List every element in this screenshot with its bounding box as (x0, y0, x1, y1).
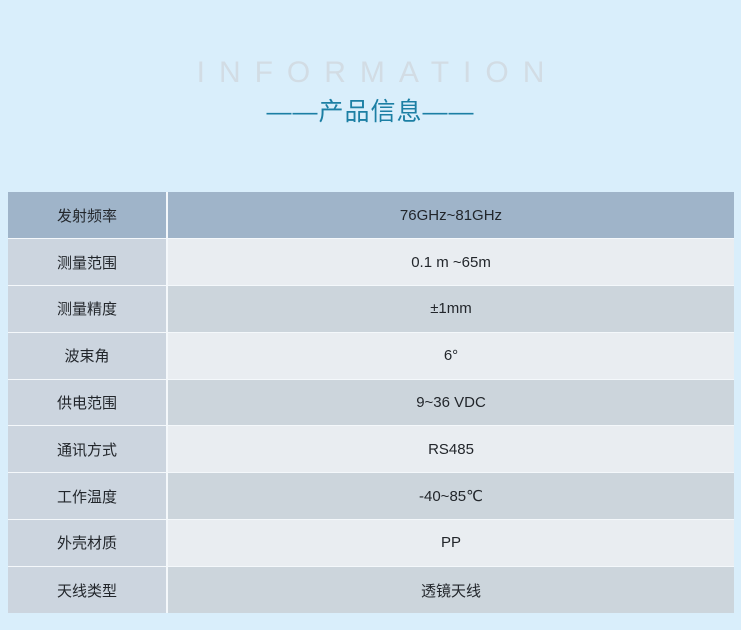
spec-label-text: 天线类型 (8, 580, 166, 601)
spec-value-cell: 9~36 VDC (167, 379, 734, 426)
spec-label-cell: 天线类型 (8, 566, 167, 613)
spec-value-cell: ±1mm (167, 286, 734, 333)
spec-value-text: RS485 (168, 441, 734, 458)
table-row: 天线类型 透镜天线 (8, 566, 734, 613)
spec-value-cell: 76GHz~81GHz (167, 192, 734, 239)
spec-value-text: 9~36 VDC (168, 394, 734, 411)
spec-label-cell: 工作温度 (8, 473, 167, 520)
spec-label-cell: 供电范围 (8, 379, 167, 426)
spec-label-cell: 测量精度 (8, 286, 167, 333)
spec-value-cell: 6° (167, 332, 734, 379)
spec-label-cell: 通讯方式 (8, 426, 167, 473)
spec-label-text: 外壳材质 (8, 532, 166, 553)
spec-value-cell: RS485 (167, 426, 734, 473)
spec-label-text: 波束角 (8, 345, 166, 366)
table-row: 通讯方式 RS485 (8, 426, 734, 473)
page-heading: INFORMATION ——产品信息—— (0, 56, 741, 128)
spec-value-text: 透镜天线 (168, 580, 734, 601)
table-row: 波束角 6° (8, 332, 734, 379)
spec-label-text: 工作温度 (8, 486, 166, 507)
spec-label-text: 测量范围 (8, 252, 166, 273)
spec-label-cell: 测量范围 (8, 239, 167, 286)
spec-value-cell: -40~85℃ (167, 473, 734, 520)
table-row: 工作温度 -40~85℃ (8, 473, 734, 520)
spec-label-cell: 波束角 (8, 332, 167, 379)
spec-label-text: 供电范围 (8, 392, 166, 413)
spec-label-cell: 发射频率 (8, 192, 167, 239)
spec-value-text: 6° (168, 347, 734, 364)
spec-label-text: 发射频率 (8, 205, 166, 226)
specification-table: 发射频率 76GHz~81GHz 测量范围 0.1 m ~65m 测量精度 (8, 192, 734, 613)
spec-label-text: 通讯方式 (8, 439, 166, 460)
table-row: 供电范围 9~36 VDC (8, 379, 734, 426)
spec-label-cell: 外壳材质 (8, 520, 167, 567)
spec-label-text: 测量精度 (8, 298, 166, 319)
spec-value-cell: PP (167, 520, 734, 567)
spec-value-cell: 0.1 m ~65m (167, 239, 734, 286)
table-row: 发射频率 76GHz~81GHz (8, 192, 734, 239)
table-row: 测量范围 0.1 m ~65m (8, 239, 734, 286)
table-row: 外壳材质 PP (8, 520, 734, 567)
spec-value-text: 0.1 m ~65m (168, 254, 734, 271)
spec-value-text: 76GHz~81GHz (168, 207, 734, 224)
heading-english-title: INFORMATION (0, 56, 741, 90)
product-information-page: INFORMATION ——产品信息—— 发射频率 76GHz~81GHz 测量… (0, 0, 741, 630)
spec-value-text: PP (168, 534, 734, 551)
spec-value-text: ±1mm (168, 300, 734, 317)
spec-value-text: -40~85℃ (168, 487, 734, 505)
specification-table-body: 发射频率 76GHz~81GHz 测量范围 0.1 m ~65m 测量精度 (8, 192, 734, 613)
heading-chinese-subtitle: ——产品信息—— (0, 96, 741, 128)
spec-value-cell: 透镜天线 (167, 566, 734, 613)
table-row: 测量精度 ±1mm (8, 286, 734, 333)
